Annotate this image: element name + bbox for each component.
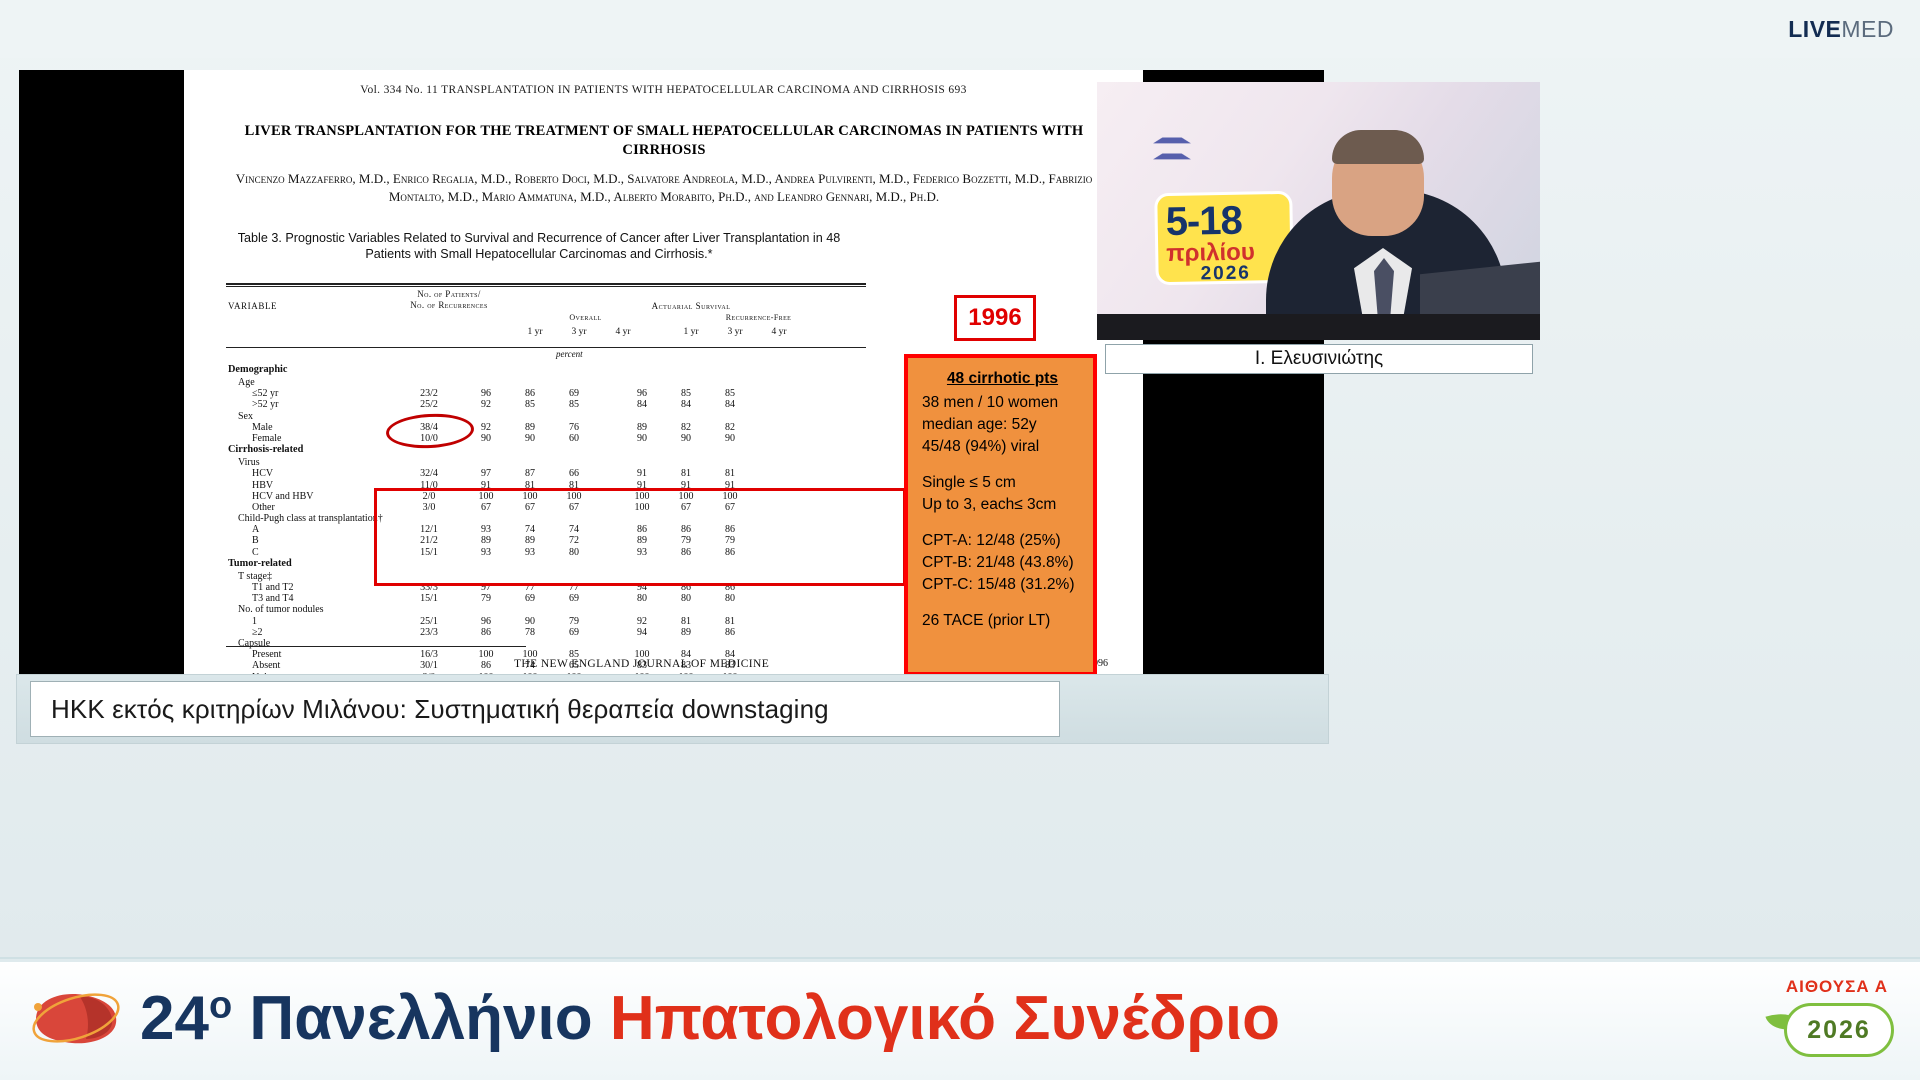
- row-value: 92: [466, 399, 506, 410]
- table-header: VARIABLE No. of Patients/No. of Recurren…: [226, 287, 866, 347]
- orange-box-line: 45/48 (94%) viral: [922, 436, 1083, 458]
- table-row: No. of tumor nodules: [226, 604, 866, 615]
- row-label: HCV: [252, 468, 273, 479]
- chevron-down-icon: [1155, 134, 1189, 166]
- banner-title: 24ο Πανελλήνιο Ηπατολογικό Συνέδριο: [140, 983, 1280, 1054]
- table-row: Capsule: [226, 638, 866, 649]
- row-value: 96: [622, 388, 662, 399]
- row-patients: 23/3: [401, 627, 457, 638]
- orange-summary-box: 48 cirrhotic pts 38 men / 10 womenmedian…: [904, 354, 1097, 676]
- row-label: Other: [252, 502, 275, 513]
- speaker-video[interactable]: 5-18 πριλίου 2026: [1097, 82, 1540, 340]
- yr-3a: 3 yr: [562, 327, 596, 337]
- row-label: Present: [252, 649, 281, 660]
- slide-page: Vol. 334 No. 11 TRANSPLANTATION IN PATIE…: [184, 70, 1143, 715]
- row-label: A: [252, 524, 259, 535]
- row-value: 80: [622, 593, 662, 604]
- caption-banner: ΗΚΚ εκτός κριτηρίων Μιλάνου: Συστηματική…: [30, 681, 1060, 737]
- row-patients: 16/3: [401, 649, 457, 660]
- row-patients: 25/1: [401, 616, 457, 627]
- table-row: Female10/0909060909090: [226, 433, 866, 444]
- row-label: HCV and HBV: [252, 491, 313, 502]
- row-value: 85: [666, 388, 706, 399]
- table-row: Sex: [226, 411, 866, 422]
- table-row: ≥223/3867869948986: [226, 627, 866, 638]
- row-label: ≥2: [252, 627, 263, 638]
- yr-4b: 4 yr: [762, 327, 796, 337]
- table-row: HCV32/4978766918181: [226, 468, 866, 479]
- row-value: 90: [510, 433, 550, 444]
- table-row: Male38/4928976898282: [226, 422, 866, 433]
- table-row: 125/1969079928181: [226, 616, 866, 627]
- row-label: Tumor-related: [228, 558, 292, 569]
- row-value: 81: [710, 468, 750, 479]
- row-value: 66: [554, 468, 594, 479]
- row-value: 96: [466, 616, 506, 627]
- row-value: 90: [666, 433, 706, 444]
- row-label: T stage‡: [238, 571, 272, 582]
- row-value: 81: [666, 468, 706, 479]
- top-bar: LIVEMED: [0, 0, 1920, 58]
- liver-logo-icon: [28, 985, 124, 1051]
- row-value: 80: [710, 593, 750, 604]
- orange-box-gap: [922, 596, 1083, 610]
- orange-box-line: Up to 3, each≤ 3cm: [922, 494, 1083, 516]
- orange-box-line: Single ≤ 5 cm: [922, 472, 1083, 494]
- row-label: Age: [238, 377, 255, 388]
- row-value: 86: [466, 627, 506, 638]
- row-value: 89: [510, 422, 550, 433]
- badge-year: 2026: [1200, 263, 1251, 286]
- row-value: 82: [710, 422, 750, 433]
- row-label: No. of tumor nodules: [238, 604, 324, 615]
- row-value: 94: [622, 627, 662, 638]
- row-value: 81: [710, 616, 750, 627]
- row-value: 96: [466, 388, 506, 399]
- logo-med-text: MED: [1841, 16, 1894, 42]
- row-value: 89: [666, 627, 706, 638]
- row-value: 86: [466, 660, 506, 671]
- annotation-year-badge: 1996: [954, 295, 1036, 341]
- speaker-hair: [1332, 130, 1424, 164]
- row-label: Virus: [238, 457, 260, 468]
- yr-1a: 1 yr: [518, 327, 552, 337]
- app-root: LIVEMED Vol. 334 No. 11 TRANSPLANTATION …: [0, 0, 1920, 1080]
- orange-box-line: CPT-C: 15/48 (31.2%): [922, 574, 1083, 596]
- row-value: 87: [510, 468, 550, 479]
- col-header-overall: Overall: [518, 313, 653, 322]
- yr-3b: 3 yr: [718, 327, 752, 337]
- article-authors: Vincenzo Mazzaferro, M.D., Enrico Regali…: [224, 170, 1104, 206]
- table-row: T3 and T415/1796969808080: [226, 593, 866, 604]
- row-value: 85: [510, 399, 550, 410]
- row-label: Demographic: [228, 364, 287, 375]
- row-value: 79: [466, 593, 506, 604]
- table-section-header: Cirrhosis-related: [226, 444, 866, 457]
- percent-label: percent: [556, 349, 583, 359]
- row-value: 85: [554, 399, 594, 410]
- speaker-nameplate: Ι. Ελευσινιώτης: [1105, 344, 1533, 374]
- hall-label: ΑΙΘΟΥΣΑ Α: [1786, 977, 1888, 997]
- orange-box-line: 26 TACE (prior LT): [922, 610, 1083, 632]
- row-value: 69: [554, 593, 594, 604]
- row-value: 69: [510, 593, 550, 604]
- orange-box-lines: 38 men / 10 womenmedian age: 52y45/48 (9…: [922, 392, 1083, 632]
- orange-box-line: CPT-B: 21/48 (43.8%): [922, 552, 1083, 574]
- table-unit-note: percent: [226, 348, 866, 364]
- yr-4a: 4 yr: [606, 327, 640, 337]
- logo-live-text: LIVE: [1788, 16, 1841, 42]
- orange-box-line: CPT-A: 12/48 (25%): [922, 530, 1083, 552]
- row-value: 82: [666, 422, 706, 433]
- row-label: B: [252, 535, 259, 546]
- col-header-recurrence-free: Recurrence-Free: [666, 313, 851, 322]
- banner-year: 2026: [1784, 1003, 1894, 1057]
- row-value: 60: [554, 433, 594, 444]
- row-value: 90: [622, 433, 662, 444]
- row-value: 100: [466, 649, 506, 660]
- row-label: >52 yr: [252, 399, 278, 410]
- row-value: 89: [622, 422, 662, 433]
- table-row: Age: [226, 377, 866, 388]
- row-patients: 15/1: [401, 593, 457, 604]
- journal-name: THE NEW ENGLAND JOURNAL OF MEDICINE: [514, 658, 769, 670]
- col-header-patients: No. of Patients/No. of Recurrences: [374, 289, 524, 311]
- yr-1b: 1 yr: [674, 327, 708, 337]
- table-bottom-rule: [226, 646, 526, 647]
- row-value: 80: [666, 593, 706, 604]
- desk-edge: [1097, 314, 1540, 340]
- row-label: HBV: [252, 480, 273, 491]
- row-patients: 23/2: [401, 388, 457, 399]
- banner-number: 24: [140, 984, 209, 1053]
- article-title: LIVER TRANSPLANTATION FOR THE TREATMENT …: [244, 122, 1084, 160]
- table-row: >52 yr25/2928585848484: [226, 399, 866, 410]
- row-value: 86: [510, 388, 550, 399]
- row-label: 1: [252, 616, 257, 627]
- row-value: 78: [510, 627, 550, 638]
- row-patients: 25/2: [401, 399, 457, 410]
- row-label: ≤52 yr: [252, 388, 278, 399]
- conference-banner: 24ο Πανελλήνιο Ηπατολογικό Συνέδριο ΑΙΘΟ…: [0, 957, 1920, 1080]
- row-label: Sex: [238, 411, 253, 422]
- row-label: Capsule: [238, 638, 270, 649]
- row-value: 90: [710, 433, 750, 444]
- row-label: T1 and T2: [252, 582, 293, 593]
- row-value: 84: [666, 399, 706, 410]
- orange-box-line: median age: 52y: [922, 414, 1083, 436]
- table-row: Virus: [226, 457, 866, 468]
- banner-divider: [0, 959, 1920, 962]
- row-value: 97: [466, 468, 506, 479]
- orange-box-gap: [922, 458, 1083, 472]
- row-value: 86: [710, 627, 750, 638]
- row-label: C: [252, 547, 259, 558]
- row-value: 92: [622, 616, 662, 627]
- livemed-logo: LIVEMED: [1788, 16, 1894, 43]
- row-label: Cirrhosis-related: [228, 444, 303, 455]
- annotation-box-cirrhosis-rows: [374, 488, 906, 586]
- row-value: 85: [710, 388, 750, 399]
- row-label: T3 and T4: [252, 593, 293, 604]
- col-header-actuarial: Actuarial Survival: [526, 301, 856, 311]
- orange-box-line: 38 men / 10 women: [922, 392, 1083, 414]
- orange-box-heading: 48 cirrhotic pts: [922, 368, 1083, 390]
- row-value: 76: [554, 422, 594, 433]
- row-patients: 32/4: [401, 468, 457, 479]
- table-row: ≤52 yr23/2968669968585: [226, 388, 866, 399]
- row-value: 90: [510, 616, 550, 627]
- row-value: 91: [622, 468, 662, 479]
- banner-degree: ο: [209, 984, 232, 1026]
- row-value: 90: [466, 433, 506, 444]
- row-label: Male: [252, 422, 273, 433]
- row-label: Child-Pugh class at transplantation†: [238, 513, 383, 524]
- table-caption: Table 3. Prognostic Variables Related to…: [224, 230, 854, 262]
- row-value: 69: [554, 627, 594, 638]
- row-value: 81: [666, 616, 706, 627]
- col-header-variable: VARIABLE: [228, 301, 277, 311]
- row-value: 84: [622, 399, 662, 410]
- journal-running-head: Vol. 334 No. 11 TRANSPLANTATION IN PATIE…: [184, 84, 1143, 96]
- caption-text: ΗΚΚ εκτός κριτηρίων Μιλάνου: Συστηματική…: [51, 694, 829, 725]
- banner-word-hep: Ηπατολογικό Συνέδριο: [610, 984, 1280, 1053]
- row-patients: 30/1: [401, 660, 457, 671]
- orange-box-gap: [922, 516, 1083, 530]
- table-section-header: Demographic: [226, 364, 866, 377]
- row-label: Absent: [252, 660, 280, 671]
- row-value: 69: [554, 388, 594, 399]
- row-value: 84: [710, 399, 750, 410]
- row-value: 79: [554, 616, 594, 627]
- banner-word-pan: Πανελλήνιο: [249, 984, 592, 1053]
- speaker-name: Ι. Ελευσινιώτης: [1255, 348, 1383, 370]
- row-label: Female: [252, 433, 281, 444]
